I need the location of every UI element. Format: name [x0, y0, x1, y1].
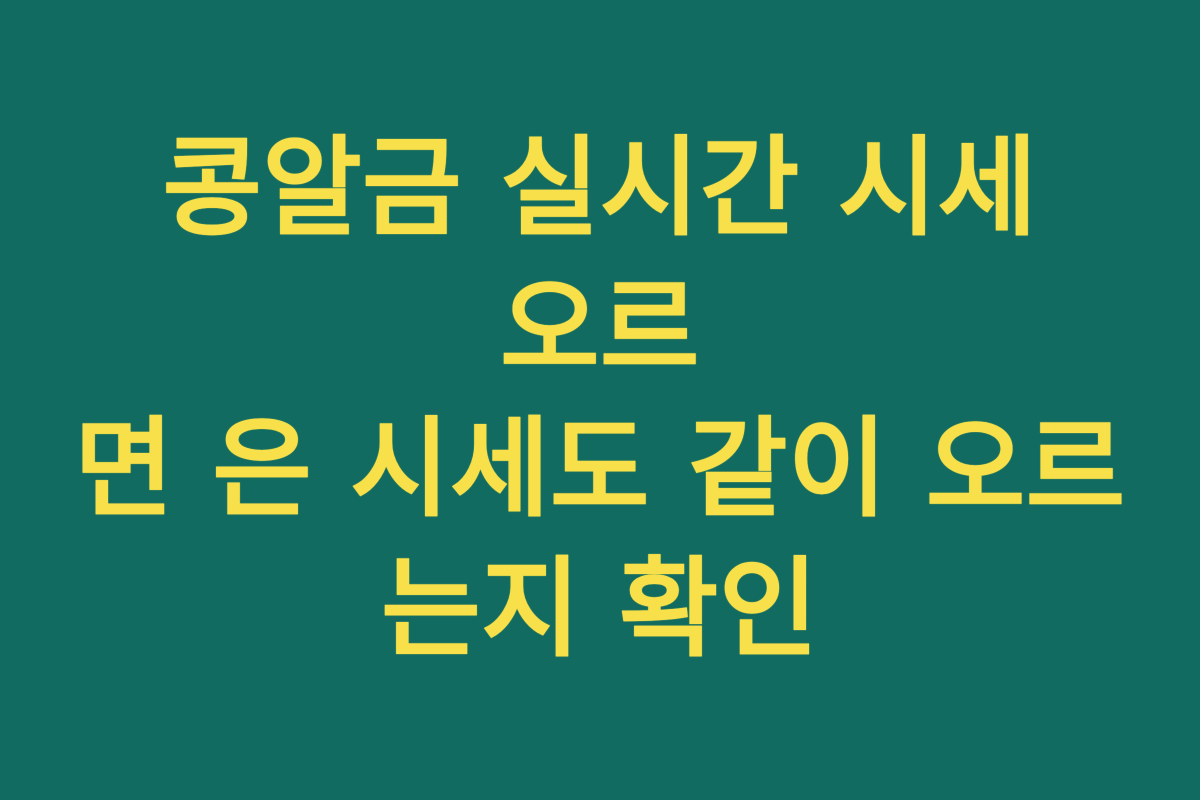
banner-headline: 콩알금 실시간 시세 오르 면 은 시세도 같이 오르 는지 확인: [70, 119, 1130, 681]
headline-line-1: 콩알금 실시간 시세 오르: [70, 119, 1130, 400]
thumbnail-banner: 콩알금 실시간 시세 오르 면 은 시세도 같이 오르 는지 확인: [0, 0, 1200, 800]
headline-line-3: 는지 확인: [70, 540, 1130, 680]
headline-line-2: 면 은 시세도 같이 오르: [70, 400, 1130, 540]
